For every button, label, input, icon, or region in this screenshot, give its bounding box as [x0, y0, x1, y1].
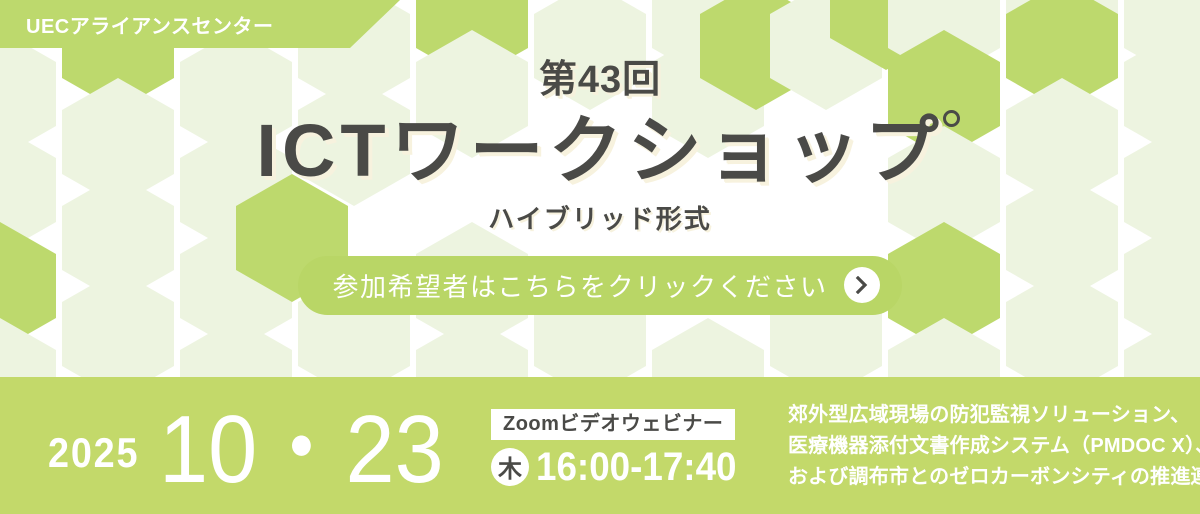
- page-title: ICTワークショップ: [256, 108, 943, 193]
- webinar-platform-tag: Zoomビデオウェビナー: [491, 409, 735, 440]
- event-time-range: 16:00-17:40: [536, 447, 737, 487]
- event-date-block: 2025 10・23: [0, 401, 469, 489]
- workshop-banner: UECアライアンスセンター 第43回 ICTワークショップ ハイブリッド形式 参…: [0, 0, 1200, 514]
- center-name-ribbon: UECアライアンスセンター: [0, 0, 410, 50]
- hero-section: 第43回 ICTワークショップ ハイブリッド形式 参加希望者はこちらをクリックく…: [0, 60, 1200, 315]
- event-venue-block: Zoomビデオウェビナー 木 16:00-17:40: [491, 409, 754, 487]
- cta-container: 参加希望者はこちらをクリックください: [0, 256, 1200, 315]
- register-button[interactable]: 参加希望者はこちらをクリックください: [298, 256, 901, 315]
- event-month-day: 10・23: [159, 406, 444, 494]
- topics-list: 郊外型広域現場の防犯監視ソリューション、 医療機器添付文書作成システム（PMDO…: [788, 404, 1200, 489]
- chevron-right-icon: [844, 267, 880, 303]
- list-item: 郊外型広域現場の防犯監視ソリューション、: [788, 404, 1200, 427]
- ribbon-label: UECアライアンスセンター: [26, 0, 274, 48]
- weekday-badge: 木: [491, 448, 529, 486]
- footer-info-band: 2025 10・23 Zoomビデオウェビナー 木 16:00-17:40 郊外…: [0, 377, 1200, 514]
- small-circle-icon: [943, 110, 960, 127]
- event-time-row: 木 16:00-17:40: [491, 447, 754, 487]
- main-title-row: ICTワークショップ: [256, 108, 943, 193]
- edition-number: 第43回: [0, 60, 1200, 102]
- register-button-label: 参加希望者はこちらをクリックください: [332, 267, 827, 304]
- event-format-subtitle: ハイブリッド形式: [0, 199, 1200, 236]
- list-item: 医療機器添付文書作成システム（PMDOC X）、: [788, 435, 1200, 458]
- event-year: 2025: [48, 432, 139, 474]
- list-item: および調布市とのゼロカーボンシティの推進連携活動: [788, 466, 1200, 489]
